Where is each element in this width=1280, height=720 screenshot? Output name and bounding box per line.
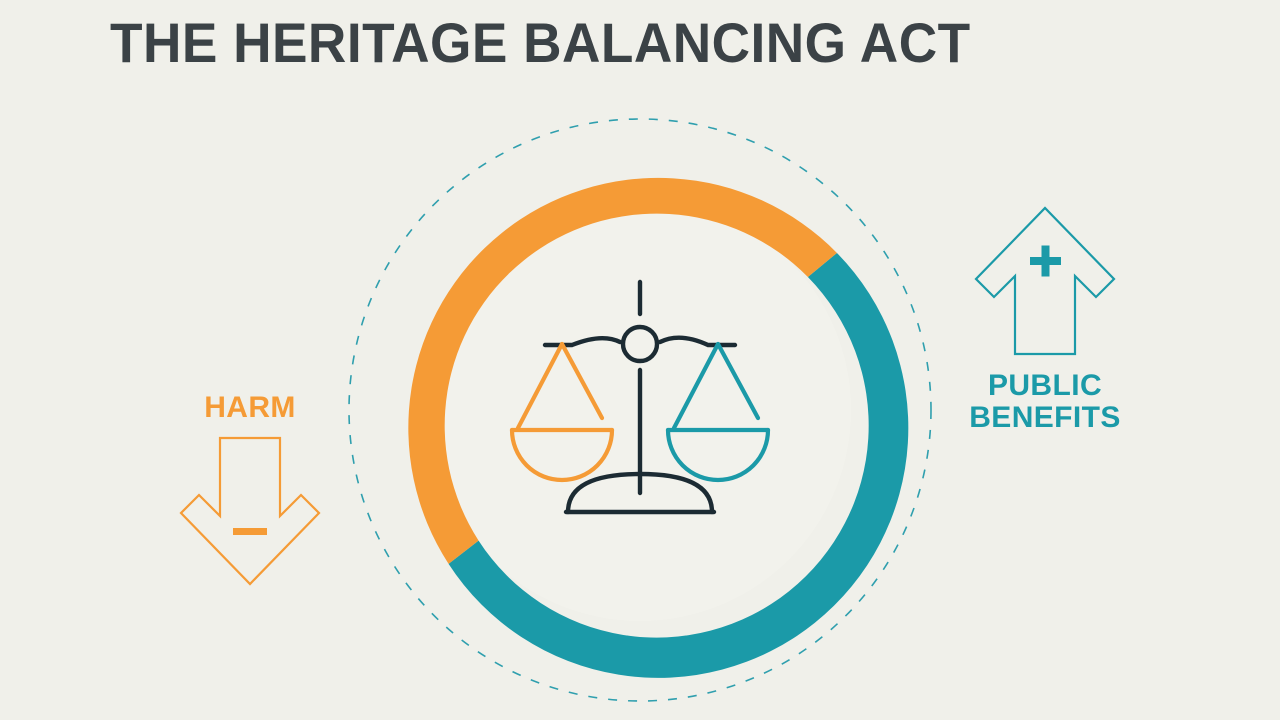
page-title: THE HERITAGE BALANCING ACT [110,12,971,74]
minus-sign-icon [233,528,267,535]
scale-fulcrum [623,327,657,361]
down-arrow-outline [181,438,319,584]
down-arrow-minus-icon [175,432,325,592]
up-arrow-plus-icon [970,200,1120,360]
balance-donut-graphic [330,100,950,720]
scale-pan-right [668,344,768,480]
public-benefits-label-line1: PUBLIC [940,370,1150,402]
scale-pan-left [512,344,612,480]
scale-beam-left [545,338,620,345]
harm-label: HARM [150,392,350,424]
scale-beam-right [660,338,735,345]
balance-scale-icon [490,260,790,560]
public-benefits-group: PUBLIC BENEFITS [940,200,1150,435]
up-arrow-outline [976,208,1114,354]
public-benefits-label-line2: BENEFITS [940,402,1150,434]
slide-canvas: THE HERITAGE BALANCING ACT [0,0,1280,720]
public-benefits-label: PUBLIC BENEFITS [940,370,1150,435]
harm-group: HARM [150,392,350,592]
plus-sign-icon [1030,246,1061,277]
